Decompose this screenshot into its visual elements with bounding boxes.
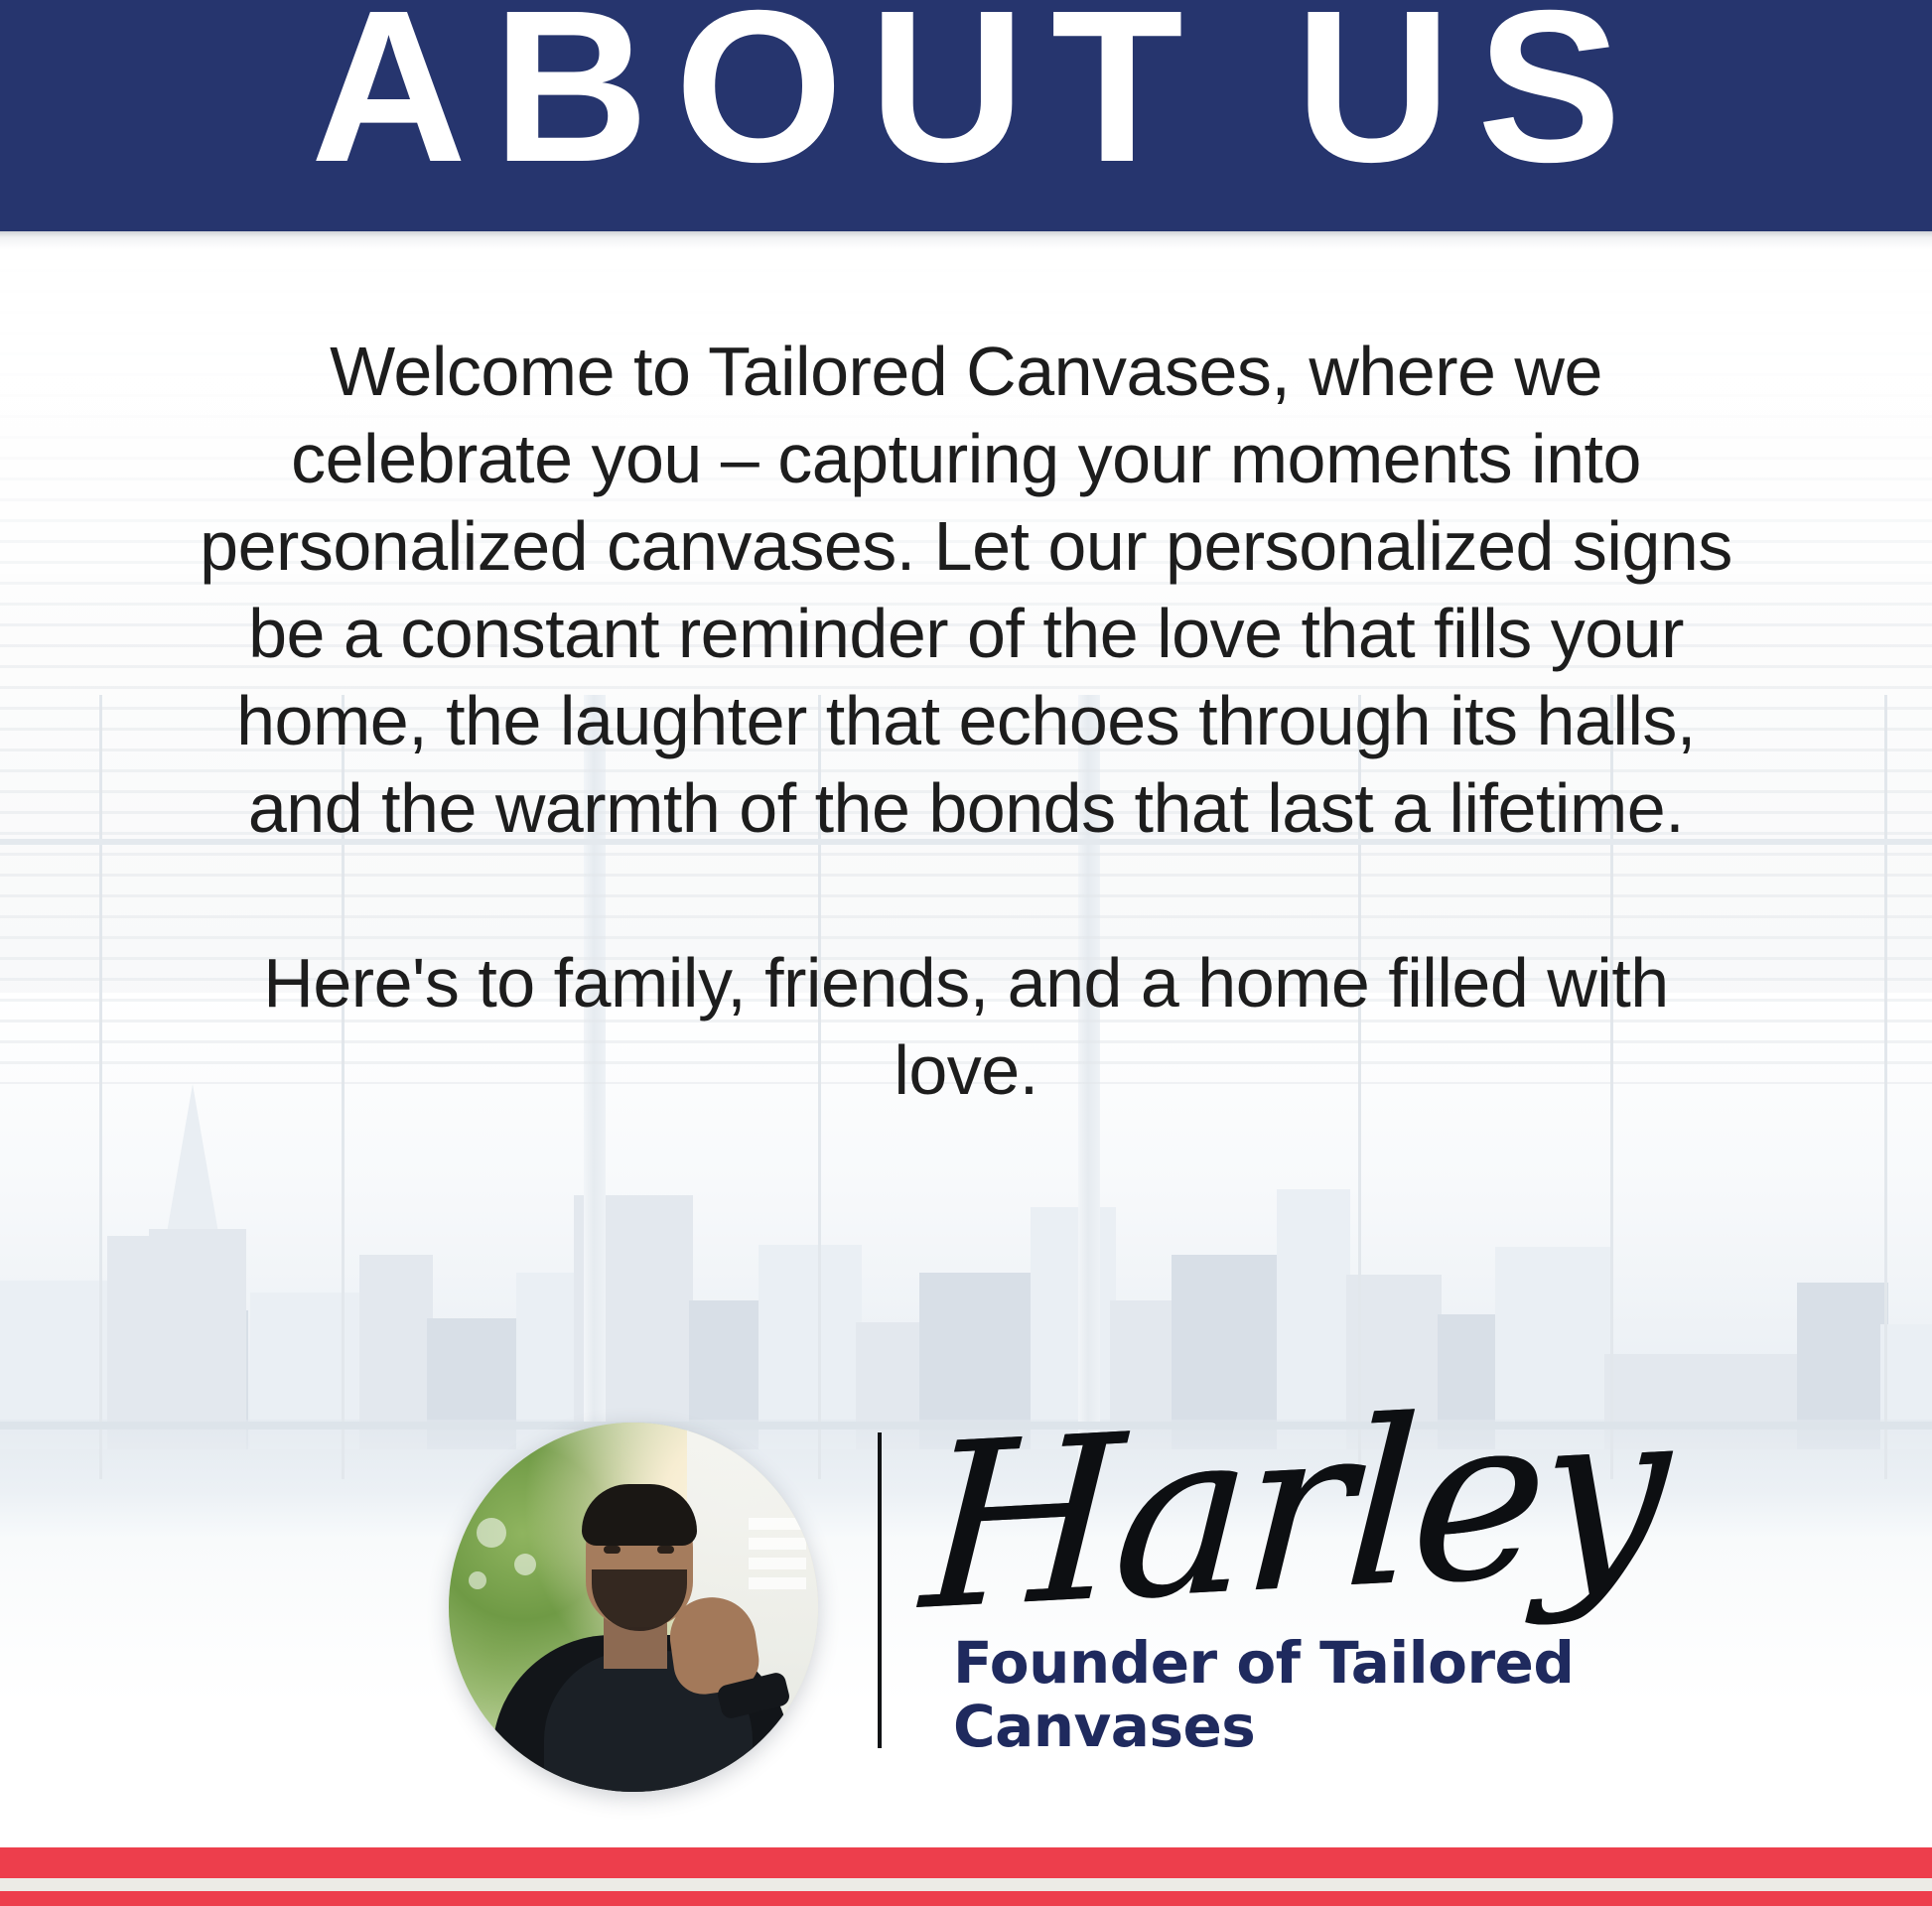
founder-role-line-2: Canvases [953,1695,1598,1758]
about-paragraph-1: Welcome to Tailored Canvases, where we c… [189,328,1743,852]
bottom-stripe-red-upper [0,1847,1932,1878]
page-title: ABOUT US [0,0,1932,212]
about-copy: Welcome to Tailored Canvases, where we c… [189,328,1743,1114]
bottom-stripe-gap [0,1878,1932,1891]
signature-text: Harley [917,1365,1669,1653]
bottom-stripe-red-lower [0,1891,1932,1906]
founder-divider [878,1432,882,1748]
about-paragraph-2: Here's to family, friends, and a home fi… [189,939,1743,1114]
founder-role: Founder of Tailored Canvases [953,1631,1598,1758]
founder-role-line-1: Founder of Tailored [953,1631,1598,1695]
avatar [449,1423,818,1792]
founder-block: Harley Founder of Tailored Canvases [0,1405,1932,1822]
header-shadow [0,231,1932,249]
header-band: ABOUT US [0,0,1932,231]
